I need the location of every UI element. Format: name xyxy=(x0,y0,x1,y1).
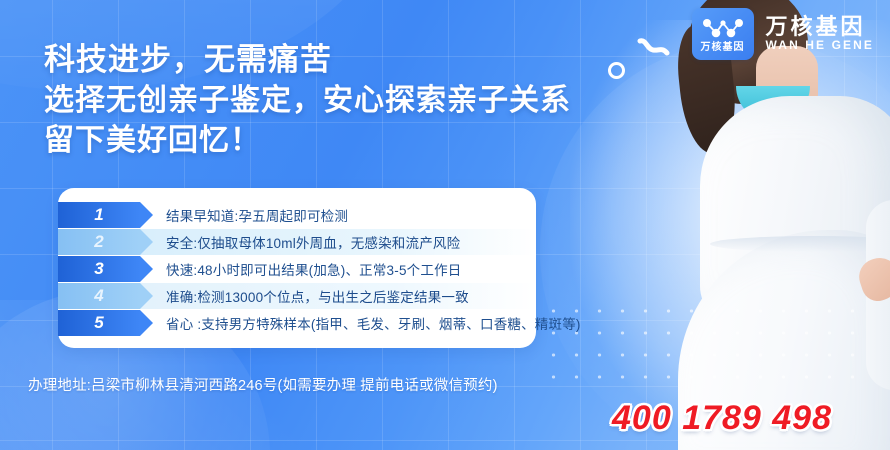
headline-line-1: 科技进步，无需痛苦 xyxy=(44,40,571,81)
feature-number: 3 xyxy=(94,259,103,279)
headline-line-3: 留下美好回忆！ xyxy=(44,121,571,161)
dot-grid-pattern xyxy=(542,300,872,386)
brand-logo[interactable]: 万核基因 万核基因 WAN HE GENE xyxy=(692,8,874,60)
feature-number-badge: 1 xyxy=(58,202,140,228)
feature-number-badge: 2 xyxy=(58,229,140,255)
wave-decoration-icon xyxy=(637,36,671,60)
promo-banner: 万核基因 万核基因 WAN HE GENE 科技进步，无需痛苦 选择无创亲子鉴定… xyxy=(0,0,890,450)
logo-mark-label: 万核基因 xyxy=(701,43,745,53)
feature-number-badge: 3 xyxy=(58,256,140,282)
circle-outline-icon xyxy=(608,62,625,79)
molecule-network-icon: 万核基因 xyxy=(692,8,754,60)
phone-number[interactable]: 400 1789 498 xyxy=(612,399,832,438)
feature-text: 结果早知道:孕五周起即可检测 xyxy=(166,205,348,225)
feature-row: 4准确:检测13000个位点，与出生之后鉴定结果一致 xyxy=(58,283,536,309)
feature-row: 2安全:仅抽取母体10ml外周血，无感染和流产风险 xyxy=(58,229,536,255)
feature-row: 1结果早知道:孕五周起即可检测 xyxy=(58,202,536,228)
feature-number: 1 xyxy=(94,205,103,225)
feature-text: 安全:仅抽取母体10ml外周血，无感染和流产风险 xyxy=(166,232,460,252)
headline-block: 科技进步，无需痛苦 选择无创亲子鉴定，安心探索亲子关系 留下美好回忆！ xyxy=(44,40,571,160)
feature-row: 3快速:48小时即可出结果(加急)、正常3-5个工作日 xyxy=(58,256,536,282)
address-text: 办理地址:吕梁市柳林县清河西路246号(如需要办理 提前电话或微信预约) xyxy=(28,374,498,395)
feature-number: 2 xyxy=(94,232,103,252)
feature-number: 4 xyxy=(94,286,103,306)
feature-number-badge: 4 xyxy=(58,283,140,309)
feature-text: 省心 :支持男方特殊样本(指甲、毛发、牙刷、烟蒂、口香糖、精斑等) xyxy=(166,313,581,333)
logo-text-block: 万核基因 WAN HE GENE xyxy=(766,15,874,52)
headline-line-2: 选择无创亲子鉴定，安心探索亲子关系 xyxy=(44,81,571,121)
feature-card: 1结果早知道:孕五周起即可检测2安全:仅抽取母体10ml外周血，无感染和流产风险… xyxy=(58,188,536,348)
molecule-network-glyph xyxy=(700,16,746,42)
feature-number-badge: 5 xyxy=(58,310,140,336)
logo-name-en: WAN HE GENE xyxy=(766,38,874,52)
feature-row: 5省心 :支持男方特殊样本(指甲、毛发、牙刷、烟蒂、口香糖、精斑等) xyxy=(58,310,536,336)
feature-text: 快速:48小时即可出结果(加急)、正常3-5个工作日 xyxy=(166,259,461,279)
logo-name-cn: 万核基因 xyxy=(766,15,874,38)
feature-list: 1结果早知道:孕五周起即可检测2安全:仅抽取母体10ml外周血，无感染和流产风险… xyxy=(58,202,536,337)
feature-text: 准确:检测13000个位点，与出生之后鉴定结果一致 xyxy=(166,286,469,306)
feature-number: 5 xyxy=(94,313,103,333)
